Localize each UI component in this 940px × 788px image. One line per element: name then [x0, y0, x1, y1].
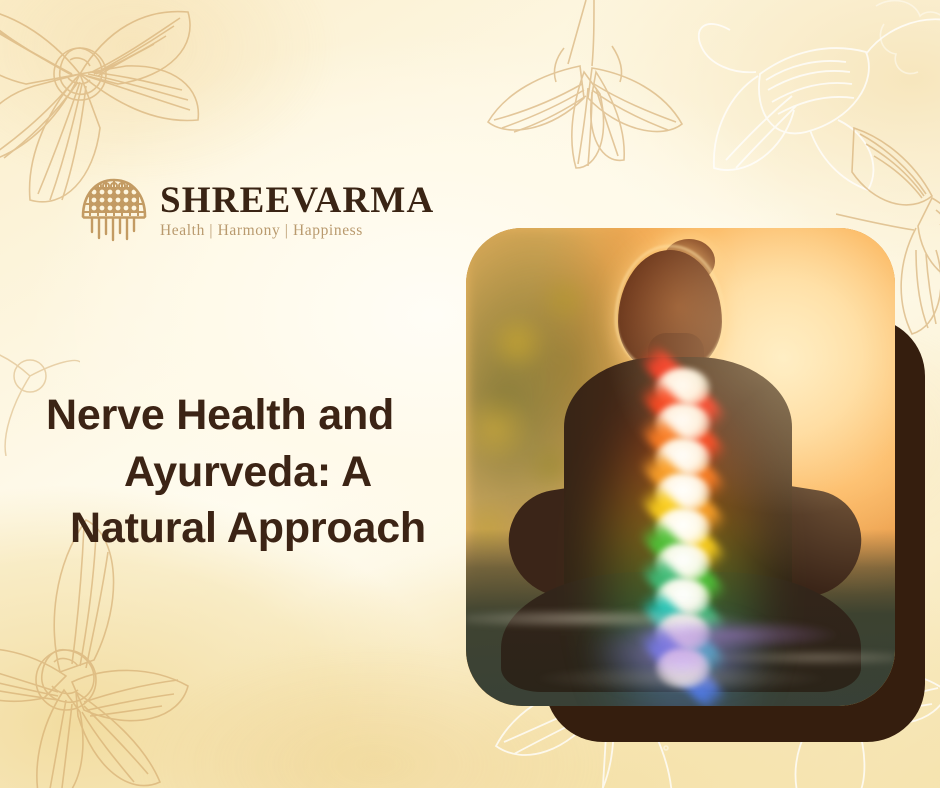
brand-tagline: Health | Harmony | Happiness	[160, 222, 434, 240]
title-line-1: Nerve Health and	[46, 387, 450, 444]
photo-stone-texture	[466, 591, 895, 706]
page-title: Nerve Health and Ayurveda: A Natural App…	[46, 387, 450, 557]
brand-name: SHREEVARMA	[160, 182, 434, 220]
brand-logo[interactable]: SHREEVARMA Health | Harmony | Happiness	[80, 176, 434, 246]
title-line-3: Natural Approach	[46, 500, 450, 557]
banyan-dome-icon	[80, 176, 148, 246]
meditation-photo-card	[466, 228, 895, 706]
poster-canvas: SHREEVARMA Health | Harmony | Happiness …	[0, 0, 940, 788]
title-line-2: Ayurveda: A	[46, 444, 450, 501]
